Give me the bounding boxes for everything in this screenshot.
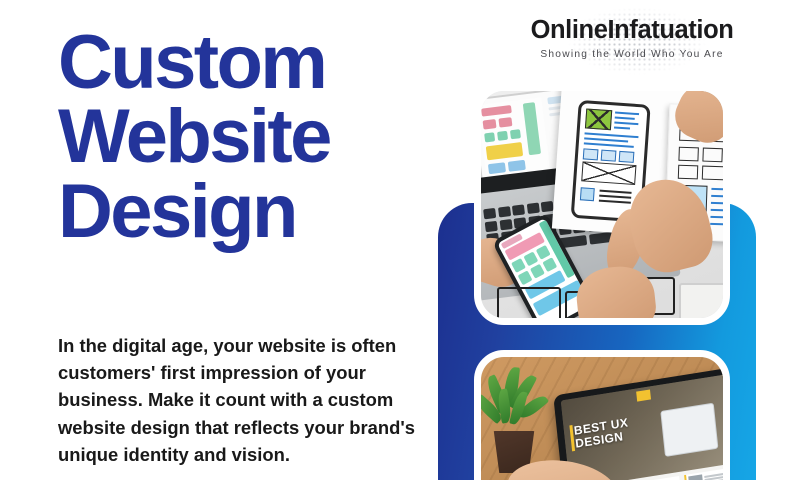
plant-icon (483, 367, 549, 439)
tablet-design-photo: BEST UX DESIGN (474, 350, 730, 480)
brand-tagline: Showing the World Who You Are (502, 49, 762, 60)
brand-logo: OnlineInfatuation Showing the World Who … (502, 18, 762, 74)
promo-banner: OnlineInfatuation Showing the World Who … (0, 0, 800, 480)
headline-line-1: Custom (58, 26, 458, 100)
wireframe-design-photo (474, 84, 730, 325)
headline: Custom Website Design (58, 26, 458, 249)
headline-line-2: Website (58, 100, 458, 174)
brand-name: OnlineInfatuation (502, 18, 762, 44)
body-paragraph: In the digital age, your website is ofte… (58, 332, 443, 467)
headline-line-3: Design (58, 175, 458, 249)
